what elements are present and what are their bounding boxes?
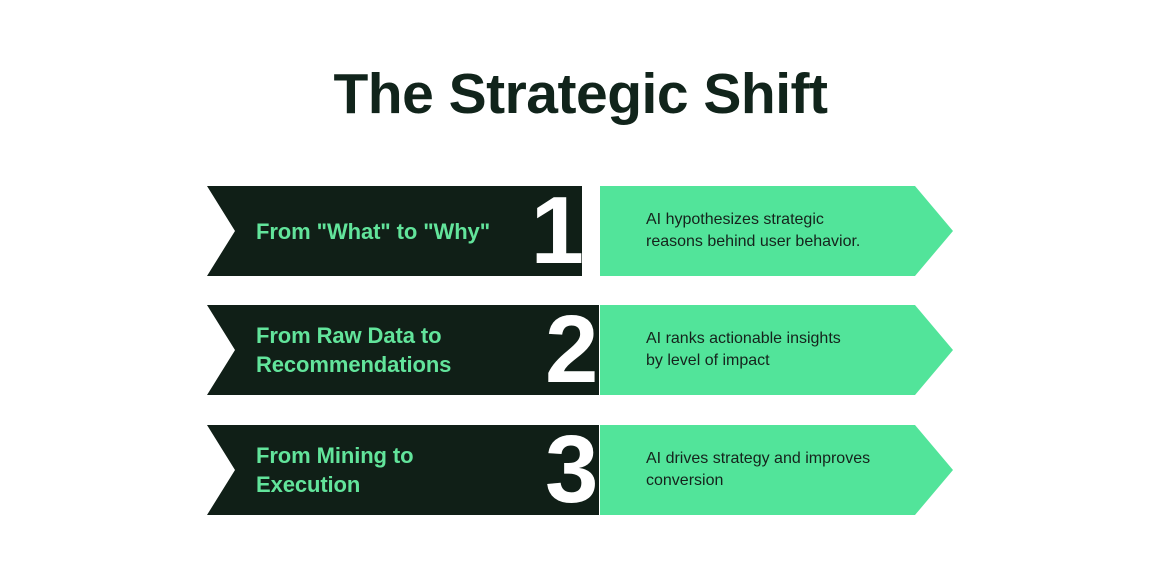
step-description-1: AI hypothesizes strategic reasons behind… xyxy=(600,209,880,253)
step-banner-3: From Mining to Execution xyxy=(207,425,599,515)
step-row-3: From Mining to Execution AI drives strat… xyxy=(0,425,1161,515)
step-panel-2: AI ranks actionable insights by level of… xyxy=(600,305,953,395)
step-label-2: From Raw Data to Recommendations xyxy=(207,321,459,379)
step-banner-1: From "What" to "Why" xyxy=(207,186,582,276)
step-banner-2: From Raw Data to Recommendations xyxy=(207,305,599,395)
step-panel-3: AI drives strategy and improves conversi… xyxy=(600,425,953,515)
page-title: The Strategic Shift xyxy=(0,58,1161,130)
step-label-1: From "What" to "Why" xyxy=(207,217,498,246)
step-description-3: AI drives strategy and improves conversi… xyxy=(600,448,890,492)
infographic-canvas: The Strategic Shift From "What" to "Why"… xyxy=(0,0,1161,576)
step-panel-1: AI hypothesizes strategic reasons behind… xyxy=(600,186,953,276)
step-label-3: From Mining to Execution xyxy=(207,441,421,499)
step-row-1: From "What" to "Why" 1 AI hypothesizes s… xyxy=(0,186,1161,276)
step-row-2: From Raw Data to Recommendations AI rank… xyxy=(0,305,1161,395)
step-description-2: AI ranks actionable insights by level of… xyxy=(600,328,861,372)
